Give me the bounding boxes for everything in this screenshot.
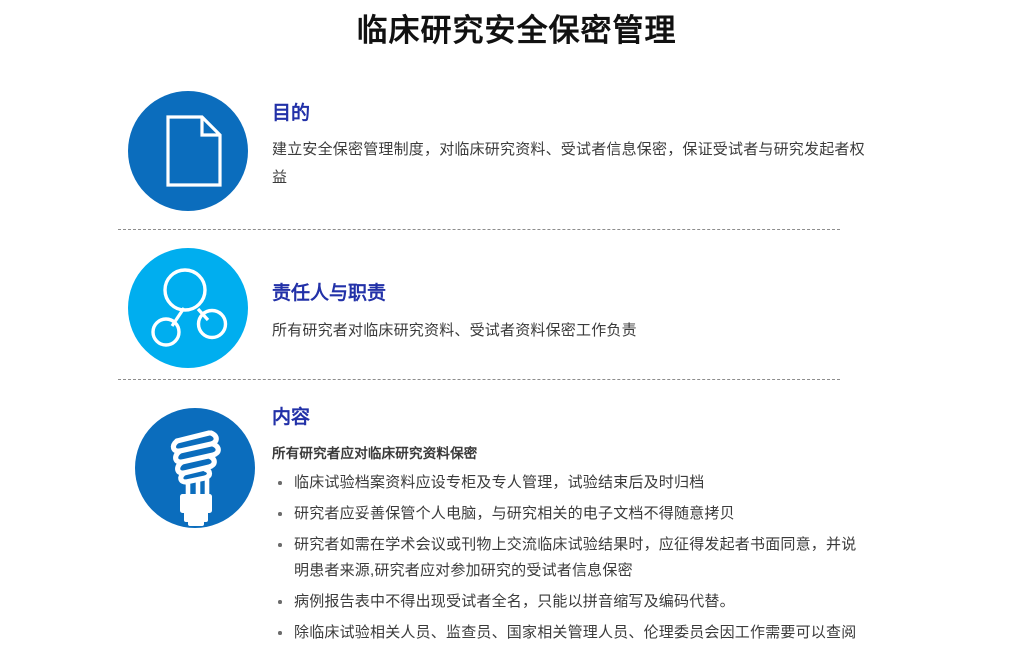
- section-responsibility-heading: 责任人与职责: [272, 281, 872, 307]
- document-icon: [128, 91, 248, 211]
- list-item-text: 病例报告表中不得出现受试者全名，只能以拼音缩写及编码代替。: [294, 589, 864, 615]
- section-content-subheading: 所有研究者应对临床研究资料保密: [272, 443, 872, 465]
- section-purpose: 目的 建立安全保密管理制度，对临床研究资料、受试者信息保密，保证受试者与研究发起…: [0, 91, 1033, 211]
- divider-1: [118, 229, 840, 230]
- section-purpose-text: 建立安全保密管理制度，对临床研究资料、受试者信息保密，保证受试者与研究发起者权益: [272, 136, 872, 192]
- section-content-bullet-list: 临床试验档案资料应设专柜及专人管理，试验结束后及时归档 研究者应妥善保管个人电脑…: [272, 470, 872, 647]
- section-purpose-body: 目的 建立安全保密管理制度，对临床研究资料、受试者信息保密，保证受试者与研究发起…: [272, 91, 872, 192]
- section-responsibility-text: 所有研究者对临床研究资料、受试者资料保密工作负责: [272, 317, 872, 345]
- section-purpose-heading: 目的: [272, 101, 872, 127]
- section-content: 内容 所有研究者应对临床研究资料保密 临床试验档案资料应设专柜及专人管理，试验结…: [0, 408, 1033, 638]
- molecule-network-icon: [128, 248, 248, 368]
- list-item-text: 研究者应妥善保管个人电脑，与研究相关的电子文档不得随意拷贝: [294, 501, 864, 527]
- list-item: 临床试验档案资料应设专柜及专人管理，试验结束后及时归档: [272, 470, 864, 496]
- molecule-network-icon-badge: [128, 248, 248, 368]
- section-responsibility-body: 责任人与职责 所有研究者对临床研究资料、受试者资料保密工作负责: [272, 248, 872, 345]
- document-icon-badge: [128, 91, 248, 211]
- infographic-page: 临床研究安全保密管理 目的 建立安全保密管理制度，对临床研究资料、受试者信息保密…: [0, 0, 1033, 647]
- list-item-text: 除临床试验相关人员、监查员、国家相关管理人员、伦理委员会因工作需要可以查阅受试者…: [294, 620, 864, 647]
- list-item: 病例报告表中不得出现受试者全名，只能以拼音缩写及编码代替。: [272, 589, 864, 615]
- list-item-text: 临床试验档案资料应设专柜及专人管理，试验结束后及时归档: [294, 470, 864, 496]
- list-item: 研究者应妥善保管个人电脑，与研究相关的电子文档不得随意拷贝: [272, 501, 864, 527]
- section-content-heading: 内容: [272, 405, 872, 431]
- list-item: 研究者如需在学术会议或刊物上交流临床试验结果时，应征得发起者书面同意，并说明患者…: [272, 532, 864, 584]
- lightbulb-icon-badge: [135, 408, 255, 528]
- divider-2: [118, 379, 840, 380]
- lightbulb-icon: [135, 408, 255, 528]
- list-item-text: 研究者如需在学术会议或刊物上交流临床试验结果时，应征得发起者书面同意，并说明患者…: [294, 532, 864, 584]
- list-item: 除临床试验相关人员、监查员、国家相关管理人员、伦理委员会因工作需要可以查阅受试者…: [272, 620, 864, 647]
- section-responsibility: 责任人与职责 所有研究者对临床研究资料、受试者资料保密工作负责: [0, 248, 1033, 368]
- page-title: 临床研究安全保密管理: [0, 10, 1033, 52]
- section-content-body: 内容 所有研究者应对临床研究资料保密 临床试验档案资料应设专柜及专人管理，试验结…: [272, 408, 872, 647]
